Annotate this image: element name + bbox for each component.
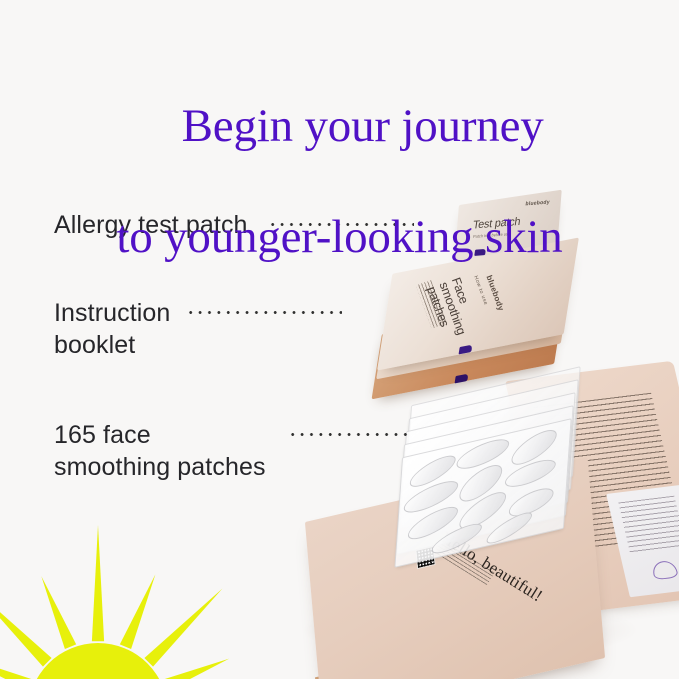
page-title-line2: to younger-looking skin xyxy=(0,210,679,265)
page-title-line1: Begin your journey xyxy=(182,100,544,152)
callout-face-smoothing-patches: 165 face smoothing patches xyxy=(54,419,408,483)
product-infographic: Hello, beautiful! Face smoothing patches… xyxy=(0,0,679,679)
dotted-leader-icon xyxy=(288,419,408,443)
page-title: Begin your journey to younger-looking sk… xyxy=(0,44,679,377)
yellow-sunburst xyxy=(0,513,298,679)
face-patch-sheet-stack xyxy=(392,382,602,547)
booklet-panel-text-lines xyxy=(618,496,679,554)
bluebody-leaf-logo-icon xyxy=(651,560,679,580)
callout-label: 165 face smoothing patches xyxy=(54,419,266,483)
